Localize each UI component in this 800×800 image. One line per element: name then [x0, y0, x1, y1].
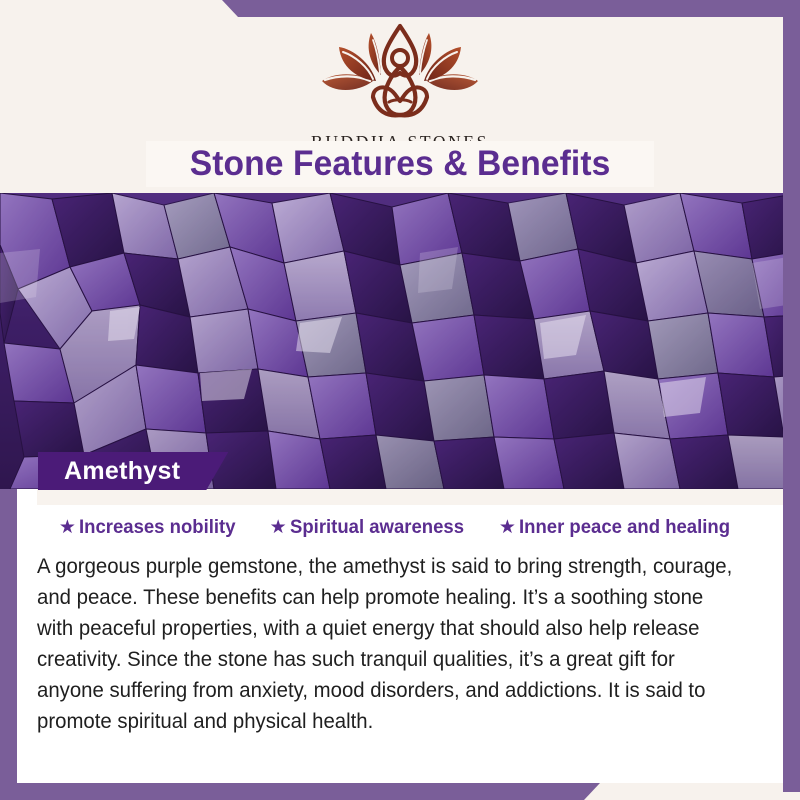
page-title: Stone Features & Benefits — [190, 144, 611, 184]
panel-top-tint — [37, 489, 783, 505]
stone-description: A gorgeous purple gemstone, the amethyst… — [37, 551, 745, 737]
title-band: Stone Features & Benefits — [146, 141, 654, 187]
star-icon: ★ — [499, 518, 516, 537]
feature-list: ★ Increases nobility ★ Spiritual awarene… — [17, 516, 783, 539]
decorative-frame-left — [0, 489, 17, 800]
feature-label-2: Spiritual awareness — [290, 516, 464, 539]
stone-name-banner: Amethyst — [38, 452, 228, 490]
brand-logo: BUDDHA STONES — [0, 23, 800, 153]
amethyst-crystal-photo — [0, 193, 800, 489]
card-header: BUDDHA STONES Stone Features & Benefits — [0, 17, 800, 193]
stone-name: Amethyst — [64, 457, 180, 486]
decorative-frame-right — [783, 0, 800, 792]
feature-label-3: Inner peace and healing — [519, 516, 730, 539]
decorative-frame-bottom — [0, 783, 600, 800]
stone-info-card: BUDDHA STONES Stone Features & Benefits — [0, 0, 800, 800]
feature-item-1: ★ Increases nobility — [59, 516, 244, 539]
content-panel: ★ Increases nobility ★ Spiritual awarene… — [17, 489, 783, 783]
lotus-meditation-icon — [315, 23, 485, 128]
feature-label-1: Increases nobility — [79, 516, 235, 539]
star-icon: ★ — [270, 518, 287, 537]
star-icon: ★ — [59, 518, 76, 537]
feature-item-3: ★ Inner peace and healing — [499, 516, 741, 539]
decorative-frame-top — [222, 0, 800, 17]
feature-item-2: ★ Spiritual awareness — [270, 516, 473, 539]
